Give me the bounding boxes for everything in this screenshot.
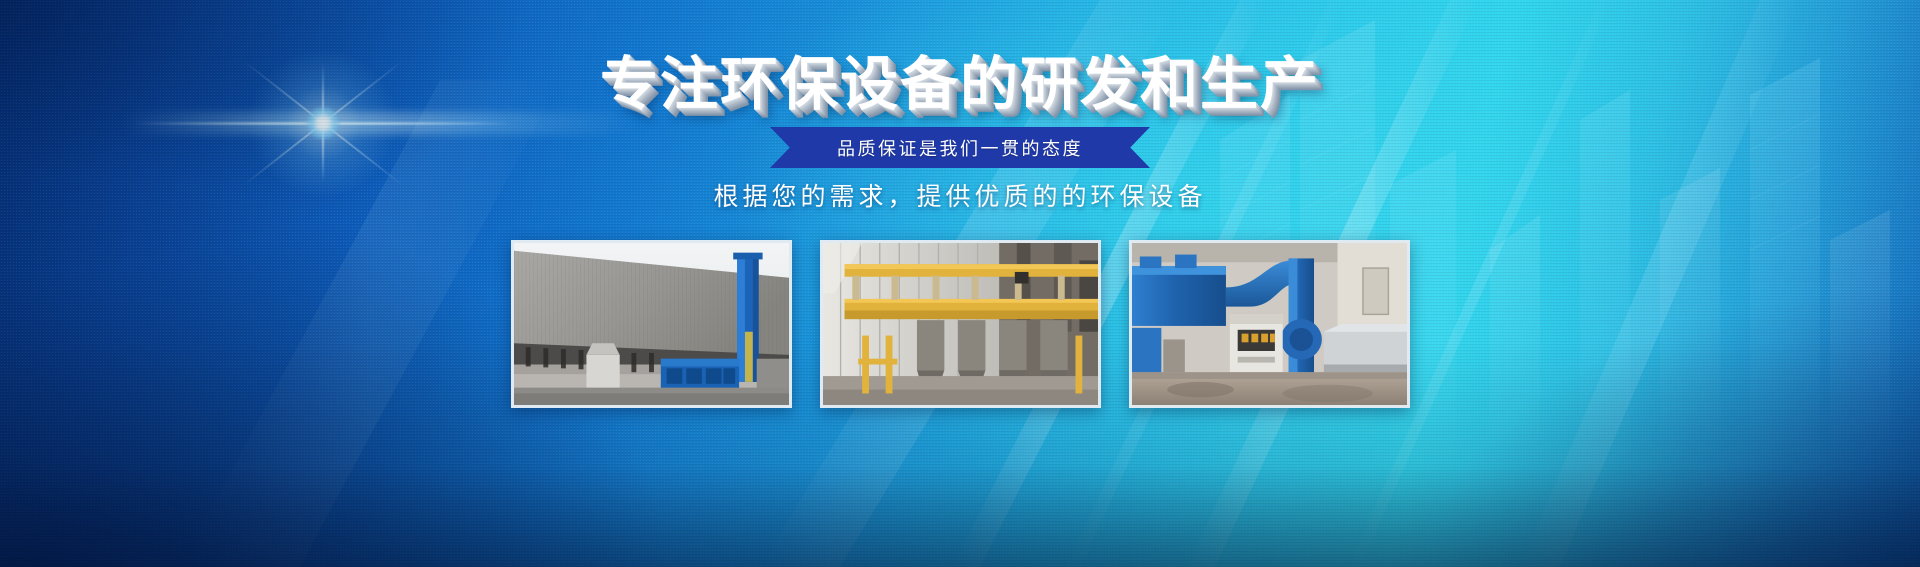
hero-banner: 专注环保设备的研发和生产 品质保证是我们一贯的态度 根据您的需求，提供优质的的环… [0,0,1920,567]
ribbon-banner: 品质保证是我们一贯的态度 [770,127,1150,168]
photo-workshop-exterior[interactable] [511,240,792,408]
banner-headline: 专注环保设备的研发和生产 [0,56,1920,114]
photo-treatment-platform[interactable] [820,240,1101,408]
ribbon-container: 品质保证是我们一贯的态度 [0,127,1920,168]
banner-content: 专注环保设备的研发和生产 品质保证是我们一贯的态度 根据您的需求，提供优质的的环… [0,0,1920,567]
photo-gallery [0,240,1920,408]
photo-blue-ducting-system[interactable] [1129,240,1410,408]
ribbon-label: 品质保证是我们一贯的态度 [837,135,1083,161]
banner-subline: 根据您的需求，提供优质的的环保设备 [0,177,1920,213]
